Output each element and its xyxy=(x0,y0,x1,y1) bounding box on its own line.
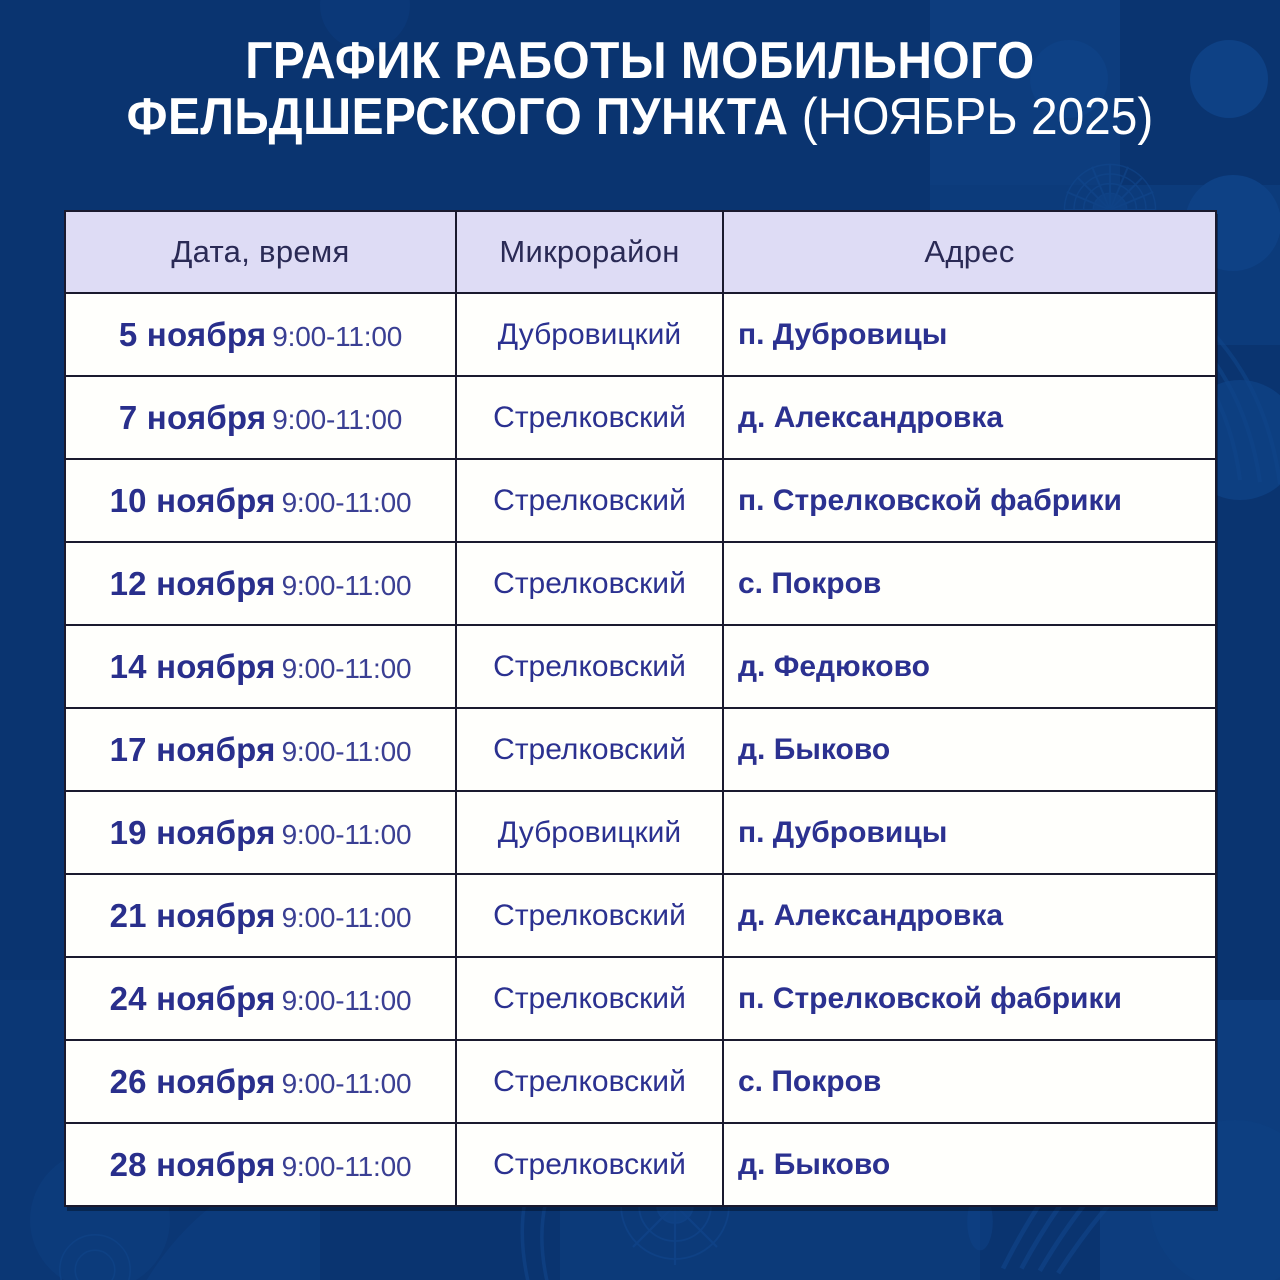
date-day: 12 ноября xyxy=(110,565,276,602)
table-row: 19 ноября9:00-11:00Дубровицкийп. Дуброви… xyxy=(65,791,1216,874)
table-body: 5 ноября9:00-11:00Дубровицкийп. Дубровиц… xyxy=(65,293,1216,1206)
date-day: 10 ноября xyxy=(110,482,276,519)
table-row: 5 ноября9:00-11:00Дубровицкийп. Дубровиц… xyxy=(65,293,1216,376)
title-line-2-main: ФЕЛЬДШЕРСКОГО ПУНКТА xyxy=(127,88,789,146)
cell-district: Стрелковский xyxy=(456,376,723,459)
cell-date-time: 7 ноября9:00-11:00 xyxy=(65,376,456,459)
cell-district: Стрелковский xyxy=(456,708,723,791)
column-header-date: Дата, время xyxy=(65,211,456,293)
cell-district: Стрелковский xyxy=(456,542,723,625)
cell-date-time: 21 ноября9:00-11:00 xyxy=(65,874,456,957)
cell-date-time: 26 ноября9:00-11:00 xyxy=(65,1040,456,1123)
cell-district: Стрелковский xyxy=(456,459,723,542)
table-row: 7 ноября9:00-11:00Стрелковскийд. Алексан… xyxy=(65,376,1216,459)
date-time: 9:00-11:00 xyxy=(282,819,412,850)
schedule-table-container: Дата, время Микрорайон Адрес 5 ноября9:0… xyxy=(64,210,1215,1207)
date-day: 14 ноября xyxy=(110,648,276,685)
cell-address: п. Дубровицы xyxy=(723,791,1216,874)
table-row: 14 ноября9:00-11:00Стрелковскийд. Федюко… xyxy=(65,625,1216,708)
cell-date-time: 28 ноября9:00-11:00 xyxy=(65,1123,456,1206)
cell-date-time: 24 ноября9:00-11:00 xyxy=(65,957,456,1040)
column-header-address: Адрес xyxy=(723,211,1216,293)
date-time: 9:00-11:00 xyxy=(272,321,402,352)
cell-date-time: 5 ноября9:00-11:00 xyxy=(65,293,456,376)
date-day: 24 ноября xyxy=(110,980,276,1017)
table-header: Дата, время Микрорайон Адрес xyxy=(65,211,1216,293)
date-time: 9:00-11:00 xyxy=(282,736,412,767)
flower-ornament-icon xyxy=(40,1215,150,1280)
table-row: 24 ноября9:00-11:00Стрелковскийп. Стрелк… xyxy=(65,957,1216,1040)
date-day: 28 ноября xyxy=(110,1146,276,1183)
cell-district: Дубровицкий xyxy=(456,293,723,376)
table-row: 21 ноября9:00-11:00Стрелковскийд. Алекса… xyxy=(65,874,1216,957)
table-row: 17 ноября9:00-11:00Стрелковскийд. Быково xyxy=(65,708,1216,791)
title-line-2-period: (НОЯБРЬ 2025) xyxy=(788,88,1153,146)
cell-address: с. Покров xyxy=(723,1040,1216,1123)
table-row: 26 ноября9:00-11:00Стрелковскийс. Покров xyxy=(65,1040,1216,1123)
cell-date-time: 14 ноября9:00-11:00 xyxy=(65,625,456,708)
cell-address: с. Покров xyxy=(723,542,1216,625)
cell-date-time: 19 ноября9:00-11:00 xyxy=(65,791,456,874)
date-day: 26 ноября xyxy=(110,1063,276,1100)
cell-address: п. Стрелковской фабрики xyxy=(723,957,1216,1040)
cell-address: п. Дубровицы xyxy=(723,293,1216,376)
cell-district: Дубровицкий xyxy=(456,791,723,874)
date-time: 9:00-11:00 xyxy=(282,1151,412,1182)
cell-date-time: 17 ноября9:00-11:00 xyxy=(65,708,456,791)
date-time: 9:00-11:00 xyxy=(282,1068,412,1099)
title-line-1: ГРАФИК РАБОТЫ МОБИЛЬНОГО xyxy=(88,34,1192,90)
column-header-district: Микрорайон xyxy=(456,211,723,293)
cell-address: д. Федюково xyxy=(723,625,1216,708)
table-row: 10 ноября9:00-11:00Стрелковскийп. Стрелк… xyxy=(65,459,1216,542)
date-day: 21 ноября xyxy=(110,897,276,934)
table-row: 12 ноября9:00-11:00Стрелковскийс. Покров xyxy=(65,542,1216,625)
cell-address: д. Александровка xyxy=(723,376,1216,459)
table-header-row: Дата, время Микрорайон Адрес xyxy=(65,211,1216,293)
schedule-table: Дата, время Микрорайон Адрес 5 ноября9:0… xyxy=(64,210,1217,1207)
cell-district: Стрелковский xyxy=(456,625,723,708)
date-time: 9:00-11:00 xyxy=(282,570,412,601)
table-row: 28 ноября9:00-11:00Стрелковскийд. Быково xyxy=(65,1123,1216,1206)
cell-district: Стрелковский xyxy=(456,874,723,957)
title-period-text: (НОЯБРЬ 2025) xyxy=(802,88,1154,146)
cell-date-time: 12 ноября9:00-11:00 xyxy=(65,542,456,625)
cell-address: д. Быково xyxy=(723,1123,1216,1206)
date-time: 9:00-11:00 xyxy=(282,902,412,933)
cell-date-time: 10 ноября9:00-11:00 xyxy=(65,459,456,542)
cell-district: Стрелковский xyxy=(456,1040,723,1123)
cell-address: д. Александровка xyxy=(723,874,1216,957)
date-day: 7 ноября xyxy=(119,399,266,436)
date-day: 5 ноября xyxy=(119,316,266,353)
cell-address: п. Стрелковской фабрики xyxy=(723,459,1216,542)
page-title: ГРАФИК РАБОТЫ МОБИЛЬНОГО ФЕЛЬДШЕРСКОГО П… xyxy=(0,34,1280,145)
date-day: 17 ноября xyxy=(110,731,276,768)
cell-address: д. Быково xyxy=(723,708,1216,791)
title-line-2: ФЕЛЬДШЕРСКОГО ПУНКТА (НОЯБРЬ 2025) xyxy=(88,90,1192,146)
cell-district: Стрелковский xyxy=(456,957,723,1040)
cell-district: Стрелковский xyxy=(456,1123,723,1206)
date-day: 19 ноября xyxy=(110,814,276,851)
date-time: 9:00-11:00 xyxy=(272,404,402,435)
date-time: 9:00-11:00 xyxy=(282,985,412,1016)
date-time: 9:00-11:00 xyxy=(282,487,412,518)
date-time: 9:00-11:00 xyxy=(282,653,412,684)
